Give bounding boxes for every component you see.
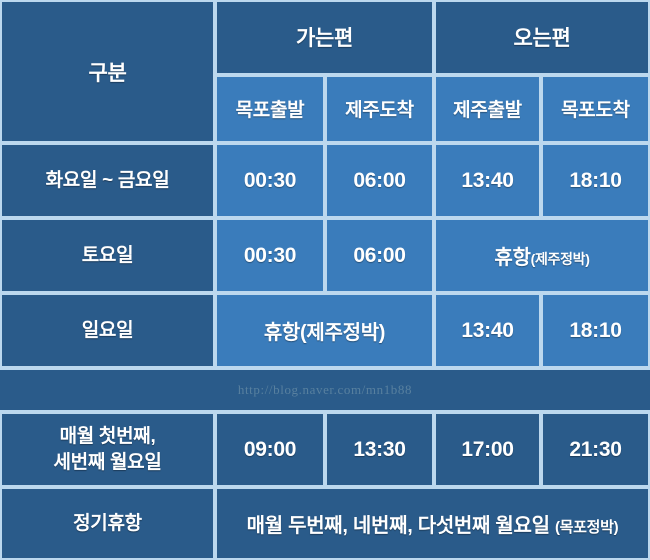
watermark-cell: http://blog.naver.com/mn1b88 [0,368,650,412]
row-label-sunday: 일요일 [0,293,215,368]
header-col-mokpo-arrive: 목포도착 [541,75,650,143]
table-row: 토요일 00:30 06:00 휴항(제주정박) [0,218,650,293]
cell-tue-fri-mokpo-arrive: 18:10 [541,143,650,218]
cell-sat-jeju-arrive: 06:00 [325,218,434,293]
table-row: 정기휴항 매월 두번째, 네번째, 다섯번째 월요일 (목포정박) [0,487,650,560]
ferry-schedule-table: 구분 가는편 오는편 목포출발 제주도착 제주출발 목포도착 화요일 ~ 금요일… [0,0,650,560]
row-label-tue-fri: 화요일 ~ 금요일 [0,143,215,218]
table-row: 일요일 휴항(제주정박) 13:40 18:10 [0,293,650,368]
header-col-jeju-depart: 제주출발 [434,75,541,143]
cell-sun-suspended-note: 휴항(제주정박) [215,293,434,368]
table-row: 매월 첫번째, 세번째 월요일 09:00 13:30 17:00 21:30 [0,412,650,487]
header-outbound-cell: 가는편 [215,0,434,75]
cell-monday-jeju-arrive: 13:30 [325,412,434,487]
cell-monday-mokpo-arrive: 21:30 [541,412,650,487]
header-col-jeju-arrive: 제주도착 [325,75,434,143]
header-row-primary: 구분 가는편 오는편 [0,0,650,75]
cell-tue-fri-jeju-arrive: 06:00 [325,143,434,218]
table-row: 화요일 ~ 금요일 00:30 06:00 13:40 18:10 [0,143,650,218]
watermark-row: http://blog.naver.com/mn1b88 [0,368,650,412]
cell-tue-fri-mokpo-depart: 00:30 [215,143,325,218]
regular-suspension-sub-text: (목포정박) [555,519,618,536]
suspended-main-text: 휴항 [494,247,530,269]
cell-sat-mokpo-depart: 00:30 [215,218,325,293]
header-category-cell: 구분 [0,0,215,143]
cell-monday-jeju-depart: 17:00 [434,412,541,487]
cell-regular-suspension-note: 매월 두번째, 네번째, 다섯번째 월요일 (목포정박) [215,487,650,560]
row-label-line-2: 세번째 월요일 [53,452,161,473]
row-label-first-third-monday: 매월 첫번째, 세번째 월요일 [0,412,215,487]
cell-sun-jeju-depart: 13:40 [434,293,541,368]
row-label-saturday: 토요일 [0,218,215,293]
header-col-mokpo-depart: 목포출발 [215,75,325,143]
row-label-regular-suspension: 정기휴항 [0,487,215,560]
cell-sat-suspended-note: 휴항(제주정박) [434,218,650,293]
cell-tue-fri-jeju-depart: 13:40 [434,143,541,218]
regular-suspension-main-text: 매월 두번째, 네번째, 다섯번째 월요일 [247,515,550,537]
cell-sun-mokpo-arrive: 18:10 [541,293,650,368]
header-inbound-cell: 오는편 [434,0,650,75]
cell-monday-mokpo-depart: 09:00 [215,412,325,487]
row-label-line-1: 매월 첫번째, [60,426,156,447]
watermark-text: http://blog.naver.com/mn1b88 [0,382,650,398]
suspended-sub-text: (제주정박) [531,251,590,267]
